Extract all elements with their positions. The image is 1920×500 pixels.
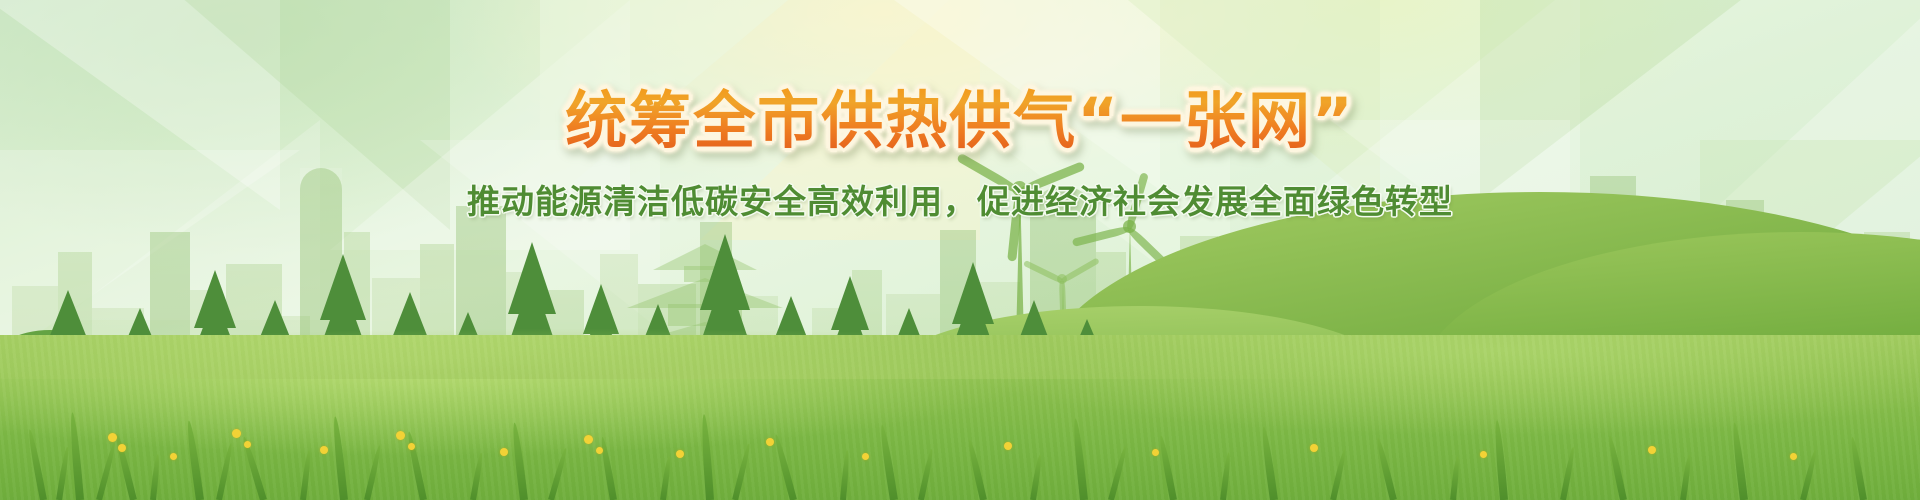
eco-energy-banner: 统筹全市供热供气“一张网” 推动能源清洁低碳安全高效利用，促进经济社会发展全面绿…: [0, 0, 1920, 500]
yellow-wildflower: [500, 448, 508, 456]
yellow-wildflower: [766, 438, 774, 446]
yellow-wildflower: [862, 453, 869, 460]
yellow-wildflower: [1648, 446, 1656, 454]
yellow-wildflower: [676, 450, 684, 458]
banner-text-block: 统筹全市供热供气“一张网” 推动能源清洁低碳安全高效利用，促进经济社会发展全面绿…: [0, 0, 1920, 223]
yellow-wildflower: [244, 441, 251, 448]
yellow-wildflower: [396, 431, 405, 440]
yellow-wildflower: [584, 435, 593, 444]
yellow-wildflower: [1152, 449, 1159, 456]
yellow-wildflower: [170, 453, 177, 460]
yellow-wildflower: [1004, 442, 1012, 450]
foreground-grass: [0, 380, 1920, 500]
yellow-wildflower: [1480, 451, 1487, 458]
banner-main-title: 统筹全市供热供气“一张网”: [0, 88, 1920, 153]
yellow-wildflower: [408, 443, 415, 450]
yellow-wildflower: [1790, 453, 1797, 460]
banner-sub-title: 推动能源清洁低碳安全高效利用，促进经济社会发展全面绿色转型: [0, 175, 1920, 223]
yellow-wildflower: [108, 433, 117, 442]
yellow-wildflower: [118, 444, 126, 452]
yellow-wildflower: [596, 447, 603, 454]
yellow-wildflower: [320, 446, 328, 454]
yellow-wildflower: [232, 429, 241, 438]
yellow-wildflower: [1310, 444, 1318, 452]
